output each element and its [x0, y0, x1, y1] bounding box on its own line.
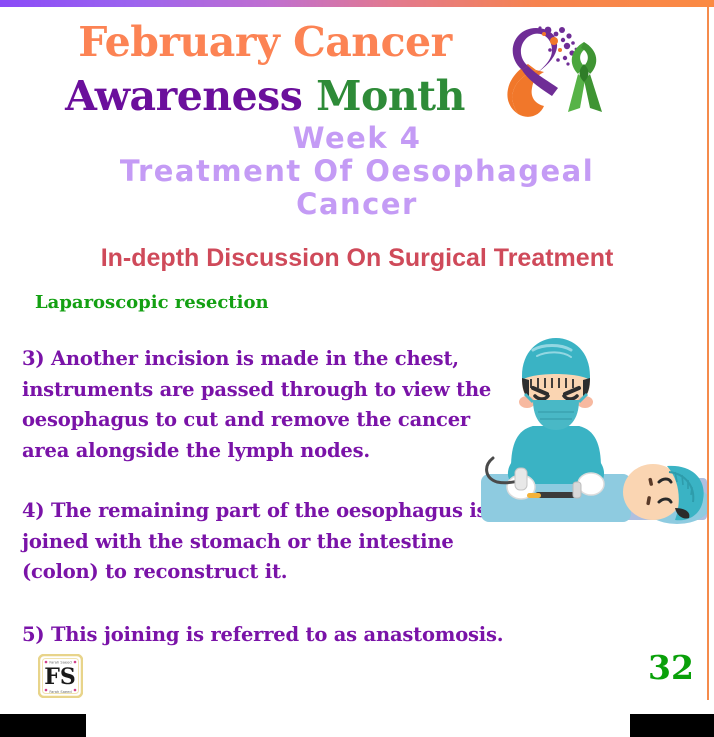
- surgery-scene-svg: [481, 332, 707, 528]
- bottom-right-black-block: [630, 714, 714, 737]
- awareness-ribbons-graphic: [492, 20, 610, 120]
- sub-heading-laparoscopic-resection: Laparoscopic resection: [35, 292, 269, 313]
- page-number: 32: [648, 648, 694, 687]
- header-word-awareness: Awareness: [65, 72, 302, 120]
- logo-dot-tr-icon: [74, 661, 77, 664]
- slide-canvas: February Cancer Awareness Month: [0, 0, 714, 737]
- logo-dot-tl-icon: [45, 661, 48, 664]
- logo-initials: FS: [44, 664, 76, 690]
- top-gradient-bar: [0, 0, 714, 7]
- surgeon-operating-illustration: [481, 332, 707, 528]
- brand-logo: Farah Saeed Farah Saeed FS: [38, 654, 83, 698]
- bottom-left-black-block: [0, 714, 86, 737]
- logo-bottom-text: Farah Saeed: [49, 690, 71, 694]
- ribbons-svg: [492, 20, 610, 120]
- header-banner: February Cancer Awareness Month: [0, 10, 714, 120]
- body-paragraph-3: 3) Another incision is made in the chest…: [22, 344, 522, 466]
- section-heading: In-depth Discussion On Surgical Treatmen…: [24, 244, 690, 273]
- week-title-line-2: Treatment Of Oesophageal: [20, 155, 694, 188]
- header-word-cancer: Cancer: [293, 18, 452, 66]
- header-line-1: February Cancer: [30, 18, 500, 66]
- week-title: Week 4 Treatment Of Oesophageal Cancer: [20, 122, 694, 221]
- header-word-february: February: [78, 18, 279, 66]
- brand-logo-svg: Farah Saeed Farah Saeed FS: [38, 654, 83, 698]
- header-word-month: Month: [316, 72, 465, 120]
- week-title-line-1: Week 4: [20, 122, 694, 155]
- header-line-2: Awareness Month: [30, 72, 500, 120]
- ribbon-particle-dots-icon: [538, 26, 577, 65]
- body-paragraph-4: 4) The remaining part of the oesophagus …: [22, 496, 532, 588]
- body-paragraph-5: 5) This joining is referred to as anasto…: [22, 620, 532, 651]
- week-title-line-3: Cancer: [20, 188, 694, 221]
